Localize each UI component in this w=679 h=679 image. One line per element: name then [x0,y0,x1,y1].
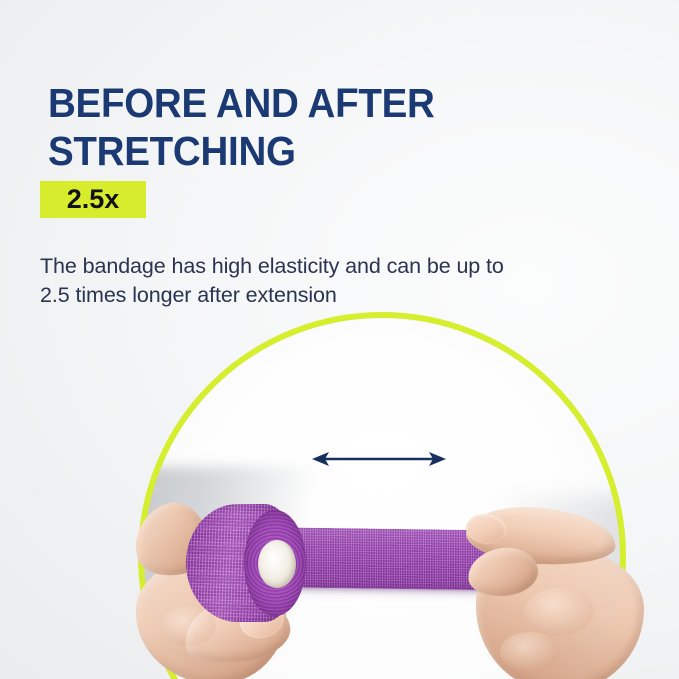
right-hand [470,492,679,679]
multiplier-badge-label: 2.5x [67,186,120,213]
page-title: BEFORE AND AFTER STRETCHING [48,79,612,175]
bandage-roll-core [258,540,296,588]
bandage-roll [186,504,314,622]
right-hand-knuckle [524,588,594,636]
product-figure [0,296,679,679]
double-headed-arrow-icon [312,448,446,470]
right-hand-knuckle-2 [500,632,560,672]
infographic-page: BEFORE AND AFTER STRETCHING 2.5x The ban… [0,0,679,679]
multiplier-badge: 2.5x [40,181,146,218]
